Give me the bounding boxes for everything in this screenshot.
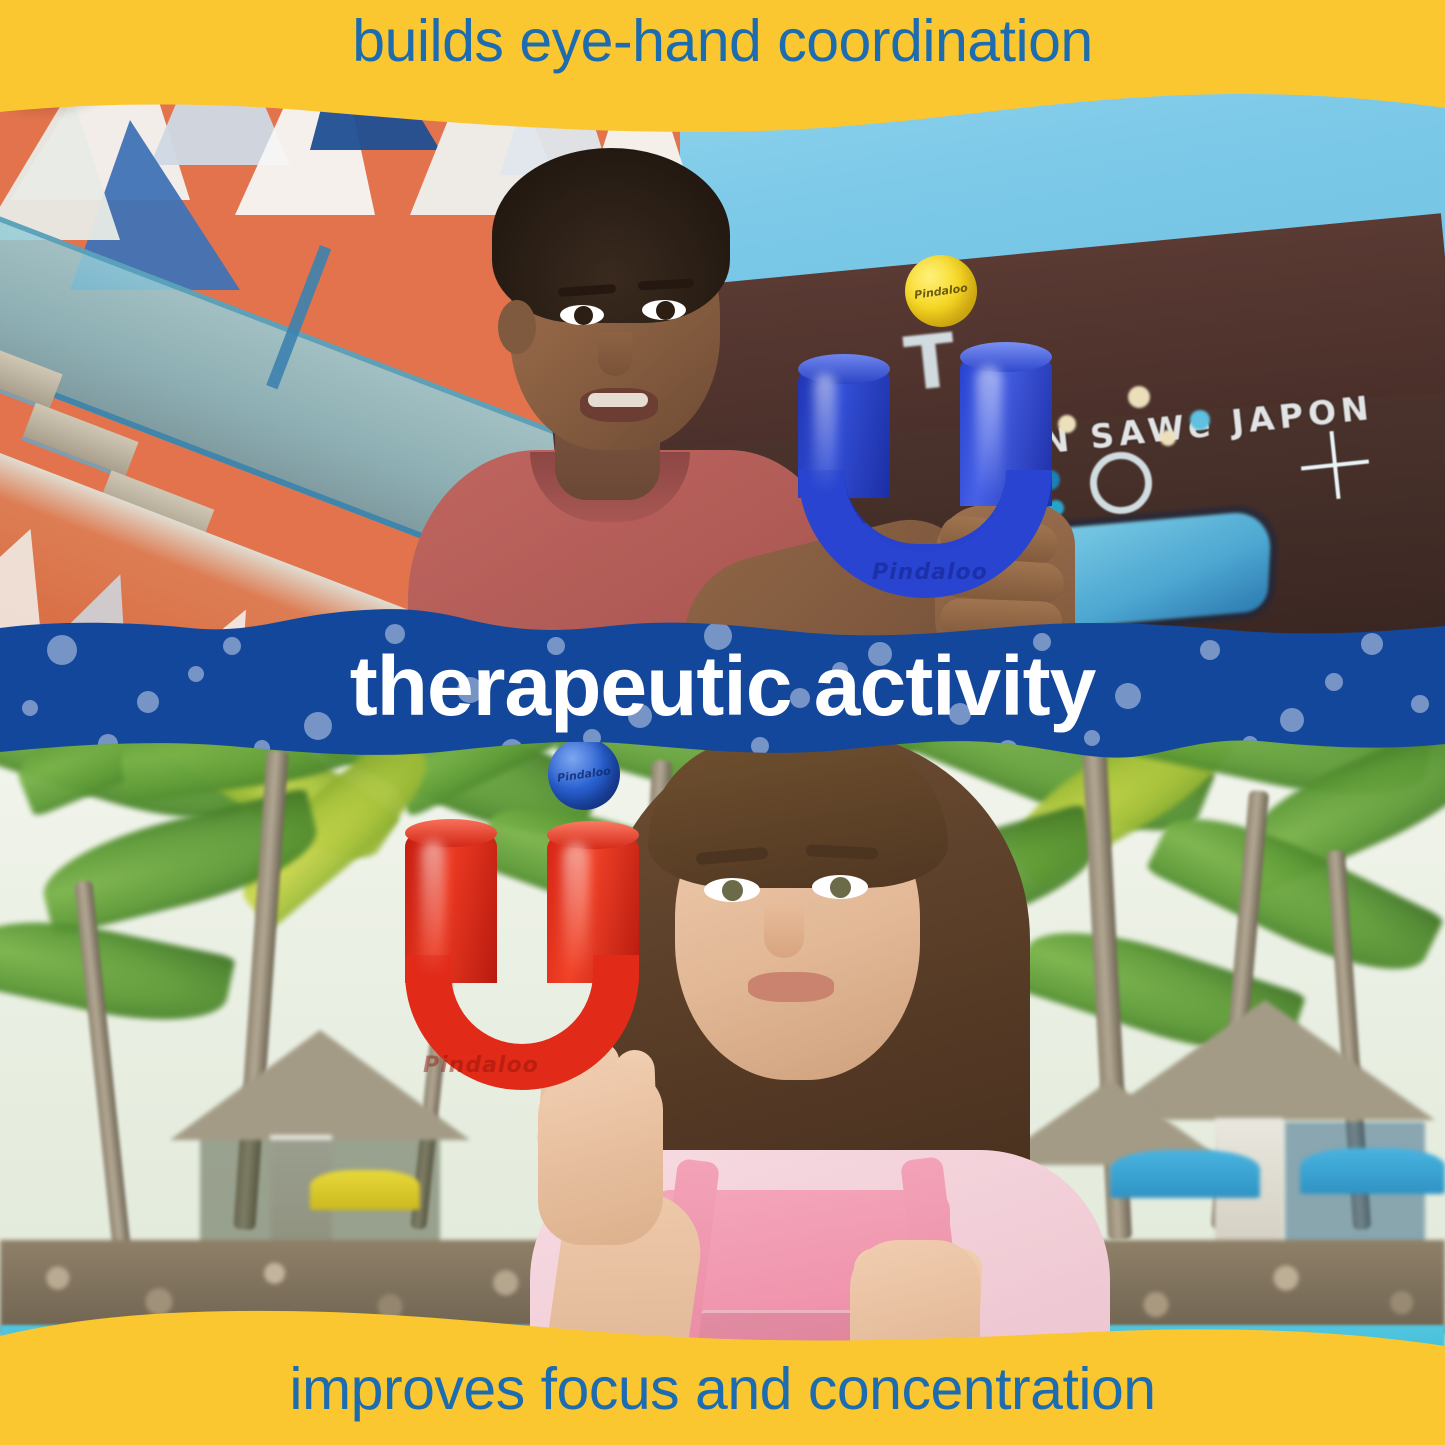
top-banner-text: builds eye-hand coordination [0,7,1445,75]
middle-banner: therapeutic activity [0,612,1445,772]
bottom-banner-text: improves focus and concentration [0,1355,1445,1423]
pindaloo-brand-logo: Pindaloo [872,560,988,585]
ball-icon-yellow: Pindaloo [905,255,977,327]
pindaloo-brand-logo: Pindaloo [423,1053,539,1078]
ball-brand-logo: Pindaloo [913,281,968,301]
boy-mouth [580,388,658,422]
boy-eye-right [642,300,686,320]
pool-umbrella [1300,1148,1445,1194]
pindaloo-toy-red: Pindaloo [395,825,645,1105]
middle-banner-text: therapeutic activity [0,638,1445,735]
girl-eye-right [812,875,868,899]
girl-mouth [748,972,834,1002]
boy-ear [498,300,536,354]
product-feature-image: T AN SAWe JAPON [0,0,1445,1445]
boy-eye-left [560,305,604,325]
graffiti-star [1297,427,1374,504]
pool-umbrella [310,1170,420,1210]
pindaloo-toy-blue: Pindaloo [790,360,1060,620]
girl-eye-left [704,878,760,902]
